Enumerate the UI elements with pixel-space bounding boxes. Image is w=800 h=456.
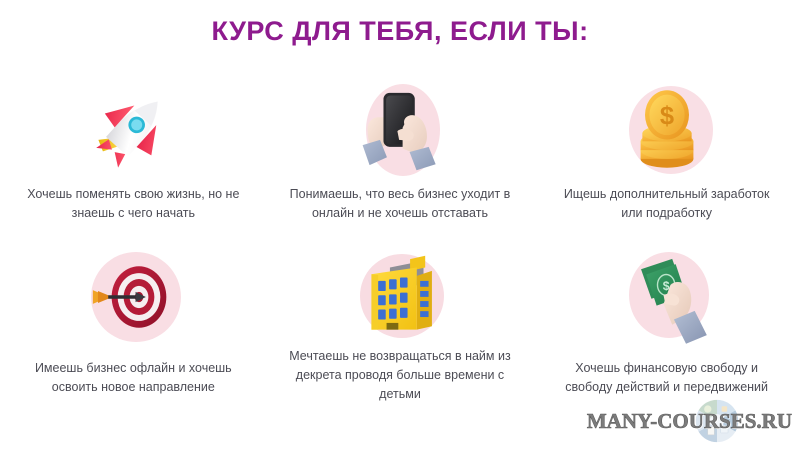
office-building-icon: [358, 247, 442, 335]
hand-holding-banknotes-icon: $: [622, 250, 712, 344]
phone-icon-wrap: [330, 76, 470, 181]
target-dartboard-arrow-icon: [86, 254, 180, 340]
watermark: MANY-COURSES.RU: [606, 396, 792, 446]
target-icon-wrap: [63, 244, 203, 349]
svg-text:$: $: [660, 102, 674, 130]
benefit-caption: Имеешь бизнес офлайн и хочешь освоить но…: [18, 359, 248, 397]
promo-page: КУРС ДЛЯ ТЕБЯ, ЕСЛИ ТЫ:: [0, 0, 800, 456]
watermark-text: MANY-COURSES.RU: [587, 409, 792, 434]
money-icon-wrap: $: [597, 244, 737, 349]
benefit-item-rocket: Хочешь поменять свою жизнь, но не знаешь…: [0, 76, 267, 244]
benefit-item-money: $ Хочешь финансовую свободу и свободу де…: [533, 244, 800, 404]
rocket-icon: [87, 83, 179, 175]
benefit-caption: Понимаешь, что весь бизнес уходит в онла…: [285, 185, 515, 223]
benefit-caption: Хочешь финансовую свободу и свободу дейс…: [552, 359, 782, 397]
coins-stack-dollar-icon: $: [623, 83, 711, 175]
benefit-caption: Мечтаешь не возвращаться в найм из декре…: [285, 347, 515, 404]
hands-holding-phone-icon: [352, 79, 448, 179]
benefit-caption: Ищешь дополнительный заработок или подра…: [552, 185, 782, 223]
benefit-item-target: Имеешь бизнес офлайн и хочешь освоить но…: [0, 244, 267, 404]
benefit-caption: Хочешь поменять свою жизнь, но не знаешь…: [18, 185, 248, 223]
benefit-item-phone: Понимаешь, что весь бизнес уходит в онла…: [267, 76, 534, 244]
building-icon-wrap: [330, 244, 470, 337]
page-title: КУРС ДЛЯ ТЕБЯ, ЕСЛИ ТЫ:: [0, 16, 800, 47]
coins-icon-wrap: $: [597, 76, 737, 181]
benefit-item-building: Мечтаешь не возвращаться в найм из декре…: [267, 244, 534, 404]
benefit-item-coins: $ Ищешь дополнительный заработок или под…: [533, 76, 800, 244]
benefits-grid: Хочешь поменять свою жизнь, но не знаешь…: [0, 76, 800, 404]
rocket-icon-wrap: [63, 76, 203, 181]
